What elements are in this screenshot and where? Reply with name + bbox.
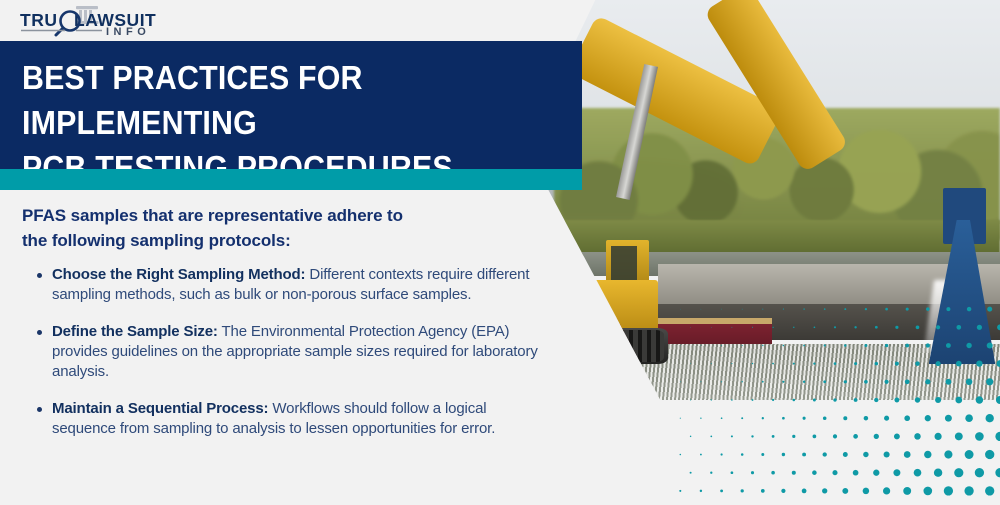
list-item: Maintain a Sequential Process: Workflows… [34, 399, 554, 439]
bullet-text: Define the Sample Size: The Environmenta… [52, 322, 554, 382]
bullet-text: Choose the Right Sampling Method: Differ… [52, 265, 554, 305]
bullet-dot-icon [37, 407, 42, 412]
photo-excavator-window [611, 246, 637, 282]
list-item: Choose the Right Sampling Method: Differ… [34, 265, 554, 305]
bullet-list: Choose the Right Sampling Method: Differ… [34, 265, 554, 456]
list-item: Define the Sample Size: The Environmenta… [34, 322, 554, 382]
logo-svg: TRU LAWSUIT INFO [18, 4, 178, 39]
halftone-decoration [670, 300, 1000, 500]
teal-accent-bar [0, 169, 582, 190]
bullet-term: Choose the Right Sampling Method: [52, 266, 305, 283]
halftone-dots-svg [670, 300, 1000, 500]
bullet-term: Maintain a Sequential Process: [52, 400, 268, 417]
photo-grass-bank [525, 220, 1000, 256]
bullet-dot-icon [37, 330, 42, 335]
lead-paragraph: PFAS samples that are representative adh… [22, 203, 522, 253]
svg-text:TRU: TRU [20, 10, 57, 30]
brand-logo[interactable]: TRU LAWSUIT INFO [18, 4, 178, 39]
bullet-term: Define the Sample Size: [52, 323, 218, 340]
bullet-text: Maintain a Sequential Process: Workflows… [52, 399, 554, 439]
svg-text:INFO: INFO [106, 26, 150, 38]
title-banner: BEST PRACTICES FOR IMPLEMENTING PCB TEST… [0, 41, 582, 169]
bullet-dot-icon [37, 273, 42, 278]
